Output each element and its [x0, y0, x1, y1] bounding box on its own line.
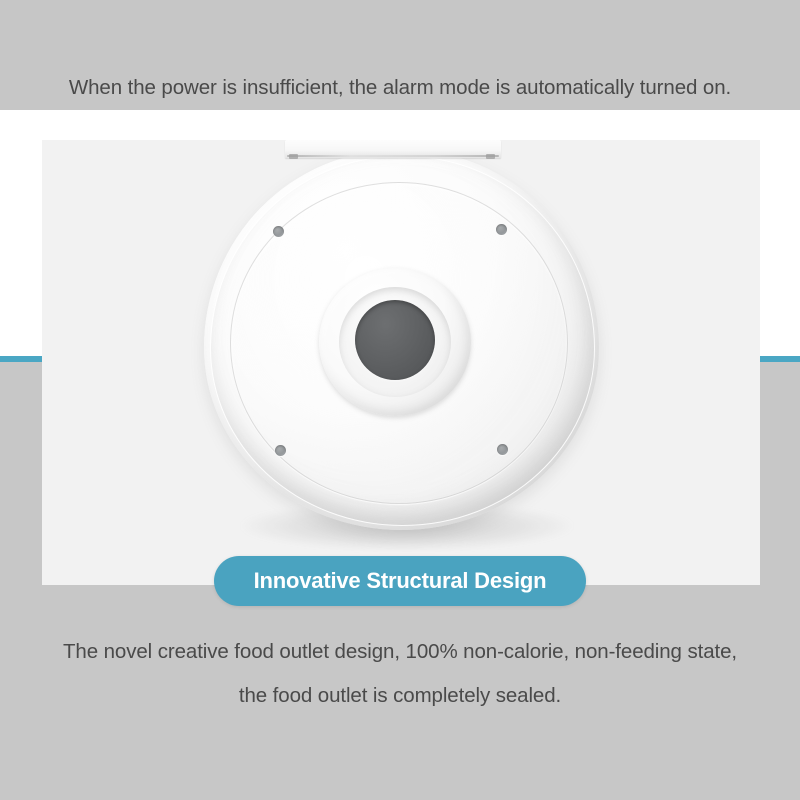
feature-badge-label: Innovative Structural Design [254, 568, 547, 594]
feature-badge: Innovative Structural Design [214, 556, 586, 606]
food-outlet-opening [355, 300, 435, 380]
product-image-panel [42, 140, 760, 585]
headline-text: When the power is insufficient, the alar… [0, 76, 800, 100]
accent-line-right [758, 356, 800, 362]
feeder-top-flange [285, 140, 501, 158]
marketing-image-canvas: When the power is insufficient, the alar… [0, 0, 800, 800]
screw-hole-top-left [273, 226, 284, 237]
caption-line-1: The novel creative food outlet design, 1… [0, 640, 800, 664]
accent-line-left [0, 356, 44, 362]
screw-hole-bottom-right [497, 444, 508, 455]
flange-foot-left [289, 154, 298, 159]
caption-line-2: the food outlet is completely sealed. [0, 684, 800, 708]
flange-foot-right [486, 154, 495, 159]
screw-hole-top-right [496, 224, 507, 235]
screw-hole-bottom-left [275, 445, 286, 456]
